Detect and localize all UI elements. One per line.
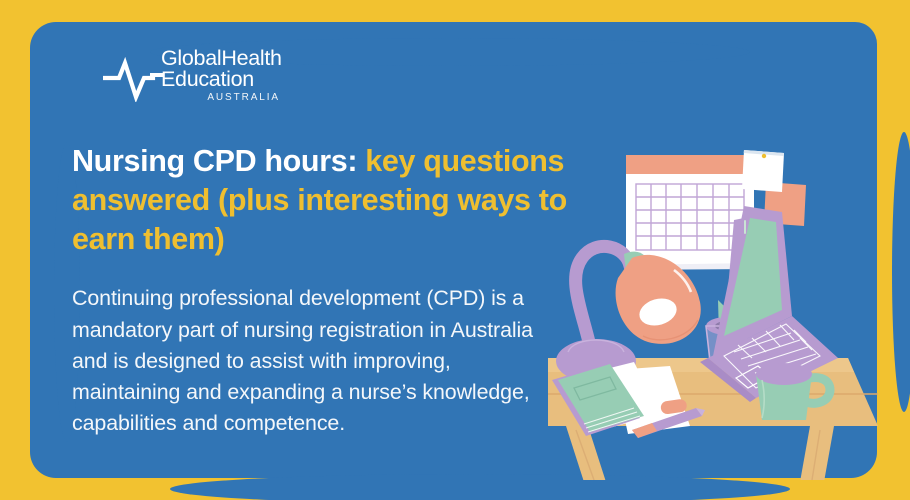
headline-plain-part: Nursing CPD hours: [72, 144, 365, 178]
brand-logo[interactable]: GlobalHealth Education AUSTRALIA [103, 48, 278, 106]
sticky-note-white-illustration [742, 150, 784, 192]
panel-edge-right [892, 132, 910, 412]
poster-canvas: GlobalHealth Education AUSTRALIA Nursing… [0, 0, 910, 500]
logo-line-globalhealth: GlobalHealth [161, 48, 281, 69]
desk-workspace-illustration [548, 130, 888, 480]
logo-wordmark: GlobalHealth Education AUSTRALIA [161, 48, 281, 103]
heartbeat-ecg-waveform-icon [103, 54, 163, 102]
page-title: Nursing CPD hours: key questions answere… [72, 142, 577, 258]
logo-line-australia: AUSTRALIA [161, 93, 281, 103]
body-paragraph: Continuing professional development (CPD… [72, 283, 562, 439]
logo-line-education: Education [161, 69, 281, 90]
